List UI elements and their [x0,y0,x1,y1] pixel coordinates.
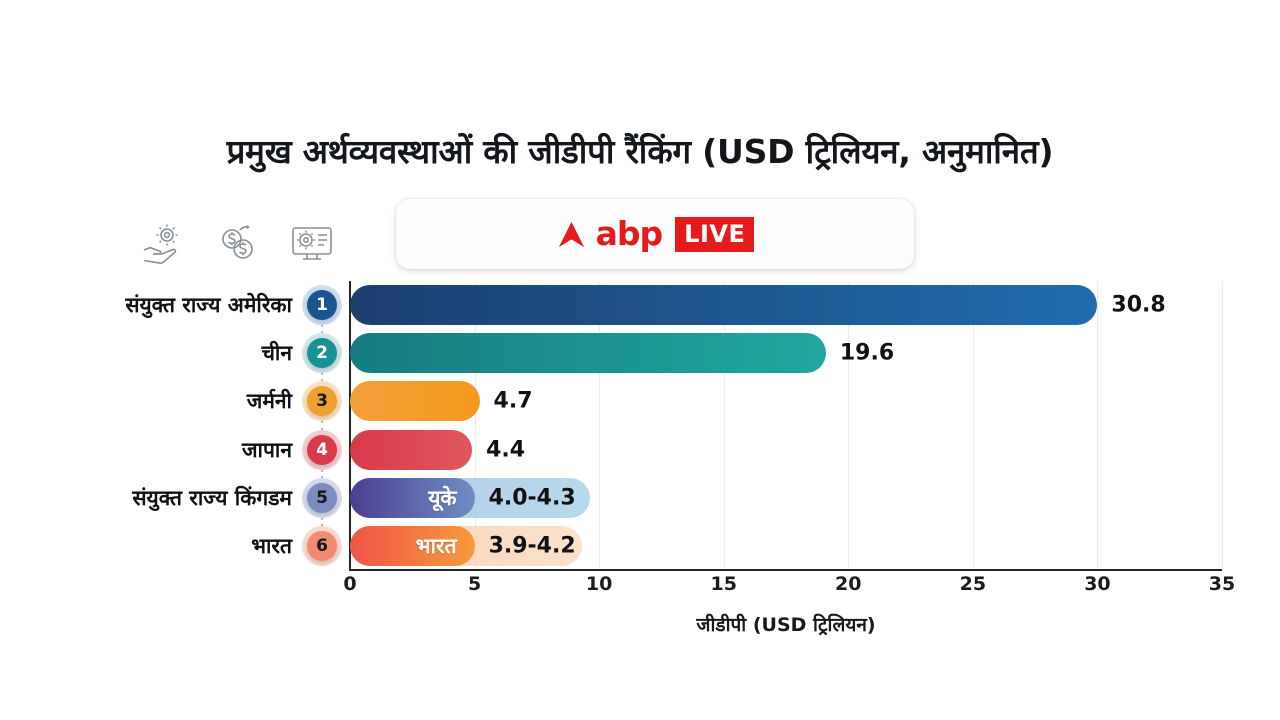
x-tick-label: 30 [1084,573,1110,595]
abp-wordmark: abp [596,217,663,250]
decorative-icon-group [138,219,353,267]
bar-core: भारत [350,526,475,566]
bar [350,333,826,373]
bar-row[interactable] [350,285,1222,325]
x-tick-label: 25 [960,573,986,595]
bar-value-label: 4.0-4.3 [489,485,576,510]
abp-arrow-icon [556,219,587,250]
abp-live-logo-card: abp LIVE [396,199,914,269]
category-label: संयुक्त राज्य किंगडम [132,484,292,512]
category-label-row: संयुक्त राज्य किंगडम [0,474,292,522]
x-tick-label: 20 [835,573,861,595]
bar-value-label: 4.4 [486,437,525,462]
bar-row[interactable] [350,333,1222,373]
x-axis-title: जीडीपी (USD ट्रिलियन) [350,611,1222,637]
bar-value-label: 30.8 [1111,293,1165,318]
live-badge: LIVE [675,217,754,252]
x-axis-line [349,569,1222,571]
category-label-row: संयुक्त राज्य अमेरिका [0,281,292,329]
x-tick-label: 15 [710,573,736,595]
bar-core: यूके [350,478,475,518]
bar-value-label: 19.6 [840,341,894,366]
x-tick-label: 0 [343,573,356,595]
bar-row[interactable] [350,430,1222,470]
bar-value-label: 3.9-4.2 [489,533,576,558]
bar [350,285,1097,325]
category-label-row: भारत [0,522,292,570]
abp-live-logo: abp LIVE [556,217,755,252]
bar-row[interactable]: भारत [350,526,1222,566]
category-label: संयुक्त राज्य अमेरिका [125,291,292,319]
category-label: भारत [251,532,292,560]
chart-plot-area: 30.819.64.74.4यूके4.0-4.3भारत3.9-4.2 051… [350,281,1222,570]
page-title: प्रमुख अर्थव्यवस्थाओं की जीडीपी रैंकिंग … [0,128,1280,173]
category-label-row: जापान [0,426,292,474]
gridline [1222,281,1223,570]
x-tick-label: 10 [586,573,612,595]
x-tick-label: 35 [1209,573,1235,595]
rank-badge[interactable]: 5 [307,483,337,513]
category-label-row: जर्मनी [0,377,292,425]
infographic-canvas: प्रमुख अर्थव्यवस्थाओं की जीडीपी रैंकिंग … [0,0,1280,720]
hand-gear-icon [138,219,186,267]
bar [350,381,480,421]
rank-badge[interactable]: 2 [307,338,337,368]
category-label-row: चीन [0,329,292,377]
dollar-coins-icon [214,219,262,267]
rank-badge[interactable]: 6 [307,531,337,561]
rank-badge[interactable]: 3 [307,386,337,416]
category-label: जर्मनी [247,387,292,415]
bar-row[interactable] [350,381,1222,421]
category-label: जापान [242,436,292,464]
category-label: चीन [262,339,292,367]
bar-value-label: 4.7 [494,389,533,414]
x-tick-label: 5 [468,573,481,595]
rank-badge[interactable]: 1 [307,290,337,320]
bar [350,430,472,470]
bar-row[interactable]: यूके [350,478,1222,518]
rank-badge-column: 123456 [300,281,344,570]
monitor-gear-icon [288,219,336,267]
rank-badge[interactable]: 4 [307,435,337,465]
